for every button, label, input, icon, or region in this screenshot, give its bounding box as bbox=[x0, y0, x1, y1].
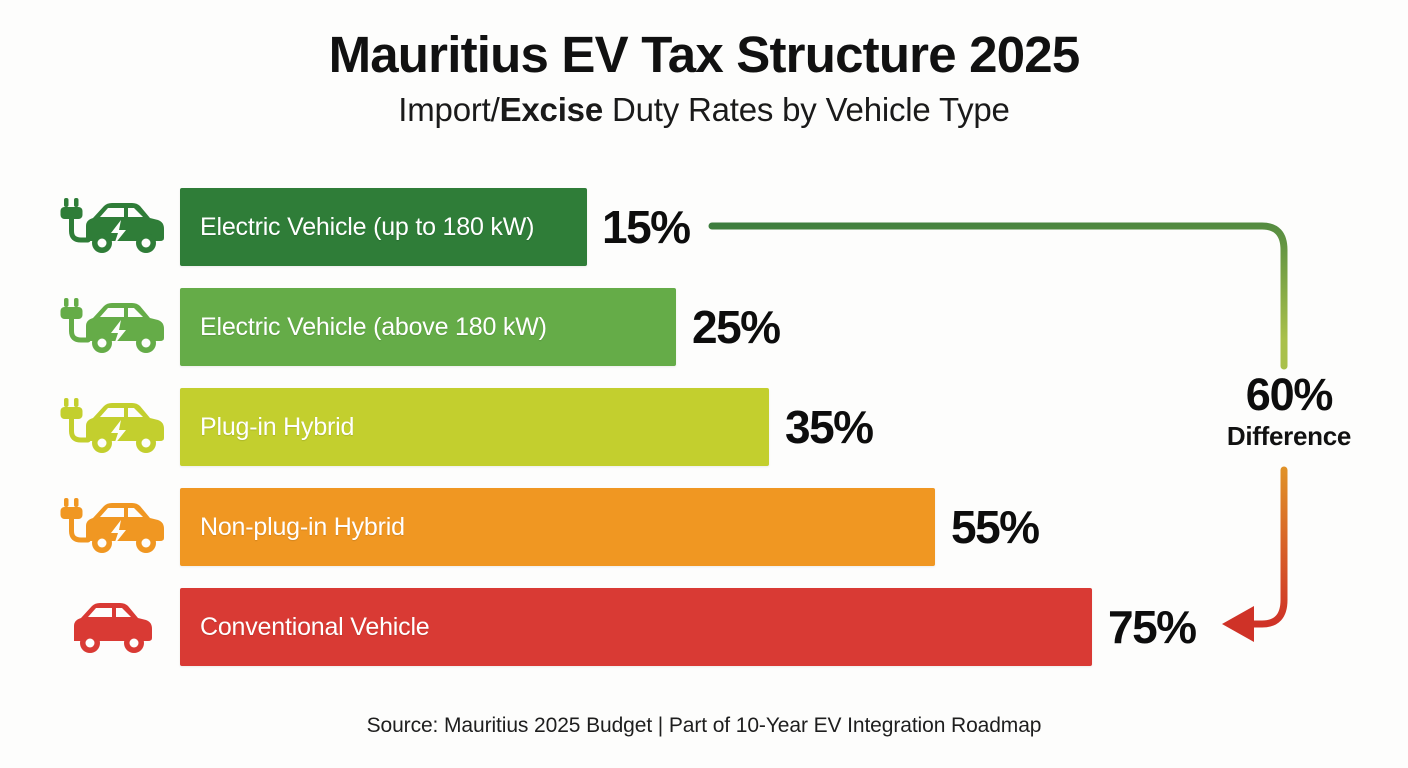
bar: Electric Vehicle (up to 180 kW) bbox=[180, 188, 587, 266]
electric-car-icon-wrap bbox=[52, 286, 174, 364]
difference-value: 60% bbox=[1196, 372, 1382, 417]
bar-value-label: 25% bbox=[692, 288, 780, 366]
bar-label: Conventional Vehicle bbox=[180, 613, 430, 642]
electric-car-icon-wrap bbox=[52, 486, 174, 564]
header: Mauritius EV Tax Structure 2025 Import/E… bbox=[0, 26, 1408, 129]
bar-label: Non-plug-in Hybrid bbox=[180, 513, 405, 542]
electric-car-icon-wrap bbox=[52, 186, 174, 264]
bar-label: Plug-in Hybrid bbox=[180, 413, 354, 442]
electric-car-icon bbox=[58, 293, 168, 357]
difference-label: Difference bbox=[1196, 423, 1382, 449]
chart-row: Non-plug-in Hybrid55% bbox=[0, 480, 1408, 580]
electric-car-icon-wrap bbox=[52, 386, 174, 464]
electric-car-icon bbox=[58, 393, 168, 457]
bar: Plug-in Hybrid bbox=[180, 388, 769, 466]
car-icon bbox=[58, 593, 168, 657]
page-title: Mauritius EV Tax Structure 2025 bbox=[0, 26, 1408, 83]
infographic-page: Mauritius EV Tax Structure 2025 Import/E… bbox=[0, 0, 1408, 768]
difference-annotation: 60% Difference bbox=[1196, 372, 1382, 449]
bar-value-label: 35% bbox=[785, 388, 873, 466]
bar: Non-plug-in Hybrid bbox=[180, 488, 935, 566]
chart-row: Electric Vehicle (above 180 kW)25% bbox=[0, 280, 1408, 380]
chart-row: Electric Vehicle (up to 180 kW)15% bbox=[0, 180, 1408, 280]
page-subtitle: Import/Excise Duty Rates by Vehicle Type bbox=[0, 91, 1408, 129]
bar-label: Electric Vehicle (above 180 kW) bbox=[180, 313, 547, 342]
bar-value-label: 55% bbox=[951, 488, 1039, 566]
subtitle-emphasis: Excise bbox=[500, 91, 603, 128]
electric-car-icon bbox=[58, 493, 168, 557]
bar-value-label: 75% bbox=[1108, 588, 1196, 666]
electric-car-icon bbox=[58, 193, 168, 257]
source-note: Source: Mauritius 2025 Budget | Part of … bbox=[0, 714, 1408, 738]
car-icon-wrap bbox=[52, 586, 174, 664]
bar: Conventional Vehicle bbox=[180, 588, 1092, 666]
bar: Electric Vehicle (above 180 kW) bbox=[180, 288, 676, 366]
subtitle-pre: Import/ bbox=[398, 91, 499, 128]
bar-label: Electric Vehicle (up to 180 kW) bbox=[180, 213, 534, 242]
chart-row: Conventional Vehicle75% bbox=[0, 580, 1408, 680]
subtitle-post: Duty Rates by Vehicle Type bbox=[603, 91, 1010, 128]
bar-value-label: 15% bbox=[602, 188, 690, 266]
